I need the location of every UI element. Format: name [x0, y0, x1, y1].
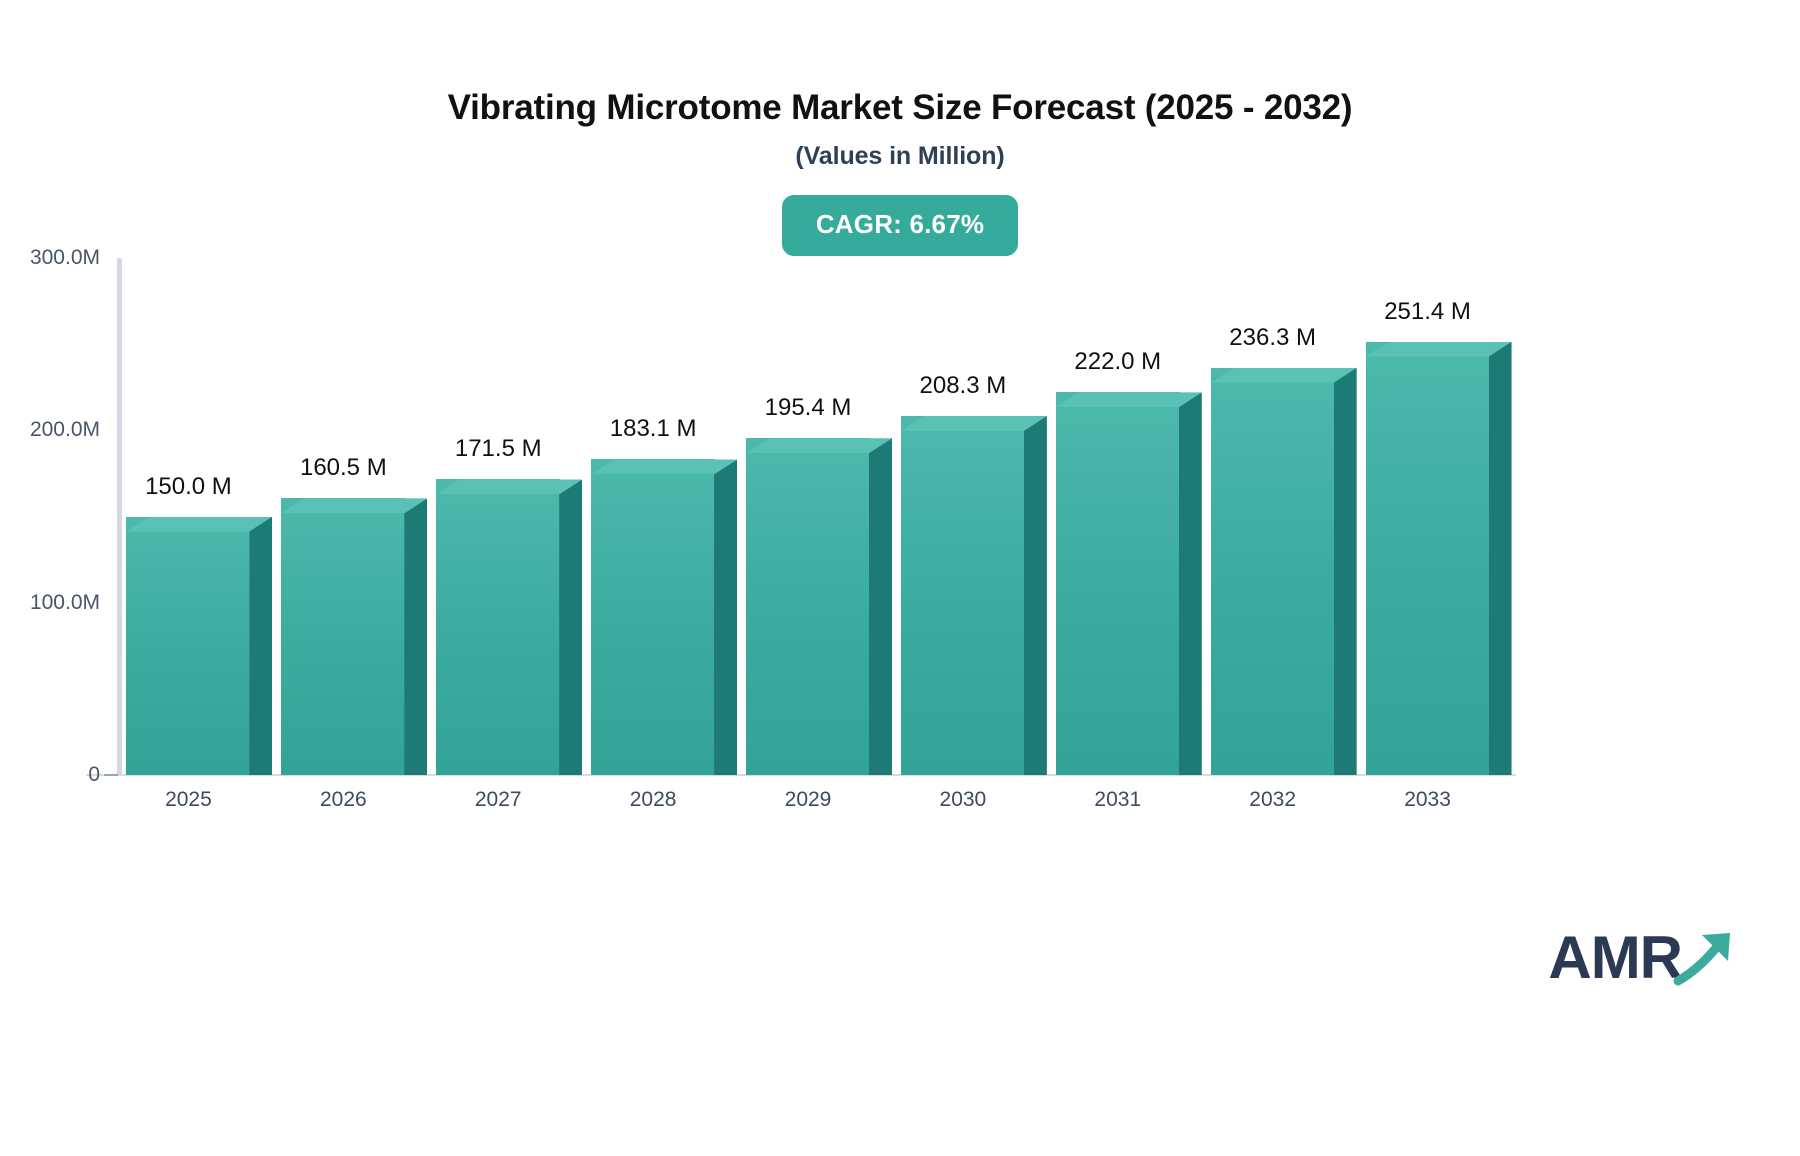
bar-top-face — [901, 416, 1047, 431]
bar-front-face — [746, 438, 870, 775]
y-axis-tick-label: 200.0M — [0, 418, 100, 442]
amr-wordmark: AMR — [1548, 928, 1682, 988]
y-axis-tick-label: 0 — [0, 763, 100, 787]
y-axis-tick-mark — [104, 257, 118, 259]
bar-2030[interactable]: 208.3 M — [901, 258, 1047, 775]
bar-front-face — [1056, 392, 1180, 775]
bar-2026[interactable]: 160.5 M — [281, 258, 427, 775]
bar-2029[interactable]: 195.4 M — [746, 258, 892, 775]
bar-top-face — [591, 459, 737, 474]
bar-top-face — [436, 479, 582, 494]
bar-value-label: 251.4 M — [1366, 298, 1490, 326]
cagr-badge-container: CAGR: 6.67% — [0, 195, 1800, 256]
bar-side-face — [1489, 342, 1512, 775]
bar-shape: 236.3 M — [1211, 368, 1357, 775]
bar-top-face — [1056, 392, 1202, 407]
page-title: Vibrating Microtome Market Size Forecast… — [0, 88, 1800, 128]
bar-value-label: 236.3 M — [1211, 324, 1335, 352]
bar-front-face — [901, 416, 1025, 775]
bar-value-label: 150.0 M — [126, 473, 250, 501]
cagr-badge: CAGR: 6.67% — [782, 195, 1018, 256]
bar-front-face — [436, 479, 560, 775]
bar-top-face — [746, 438, 892, 453]
x-axis-line — [86, 774, 1516, 776]
bar-front-face — [1211, 368, 1335, 775]
bar-side-face — [869, 438, 892, 775]
x-axis-tick-label: 2027 — [475, 788, 522, 812]
y-axis-tick-mark — [104, 774, 118, 776]
bar-value-label: 208.3 M — [901, 372, 1025, 400]
bar-shape: 160.5 M — [281, 498, 427, 775]
bar-2033[interactable]: 251.4 M — [1366, 258, 1512, 775]
bar-2027[interactable]: 171.5 M — [436, 258, 582, 775]
y-axis-tick-mark — [104, 602, 118, 604]
bar-value-label: 160.5 M — [281, 454, 405, 482]
y-axis-tick-label: 100.0M — [0, 591, 100, 615]
x-axis-tick-label: 2031 — [1094, 788, 1141, 812]
y-axis-line — [117, 258, 122, 776]
bars-container: 150.0 M160.5 M171.5 M183.1 M195.4 M208.3… — [122, 258, 1516, 775]
bar-top-face — [1366, 342, 1512, 357]
bar-side-face — [404, 498, 427, 775]
bar-shape: 195.4 M — [746, 438, 892, 775]
bar-top-face — [126, 517, 272, 532]
bar-value-label: 183.1 M — [591, 415, 715, 443]
x-axis-tick-label: 2032 — [1249, 788, 1296, 812]
bar-side-face — [559, 479, 582, 775]
bar-side-face — [1179, 392, 1202, 775]
bar-front-face — [126, 517, 250, 776]
bar-side-face — [249, 517, 272, 776]
bar-side-face — [714, 459, 737, 775]
chart-subtitle: (Values in Million) — [0, 142, 1800, 171]
bar-shape: 222.0 M — [1056, 392, 1202, 775]
chart-header: Vibrating Microtome Market Size Forecast… — [0, 0, 1800, 256]
bar-2025[interactable]: 150.0 M — [126, 258, 272, 775]
bar-shape: 150.0 M — [126, 517, 272, 776]
y-axis-tick-mark — [104, 429, 118, 431]
bar-front-face — [1366, 342, 1490, 775]
bar-side-face — [1334, 368, 1357, 775]
x-axis-tick-label: 2026 — [320, 788, 367, 812]
bar-side-face — [1024, 416, 1047, 775]
bar-value-label: 171.5 M — [436, 435, 560, 463]
bar-shape: 183.1 M — [591, 459, 737, 775]
x-axis-tick-label: 2028 — [630, 788, 677, 812]
x-axis-tick-label: 2033 — [1404, 788, 1451, 812]
x-axis-tick-label: 2025 — [165, 788, 212, 812]
bar-shape: 171.5 M — [436, 479, 582, 775]
x-axis-tick-label: 2029 — [785, 788, 832, 812]
bar-top-face — [281, 498, 427, 513]
bar-front-face — [591, 459, 715, 775]
bar-shape: 208.3 M — [901, 416, 1047, 775]
bar-2031[interactable]: 222.0 M — [1056, 258, 1202, 775]
bar-2028[interactable]: 183.1 M — [591, 258, 737, 775]
bar-top-face — [1211, 368, 1357, 383]
growth-arrow-icon — [1672, 927, 1742, 994]
bar-shape: 251.4 M — [1366, 342, 1512, 775]
bar-2032[interactable]: 236.3 M — [1211, 258, 1357, 775]
bar-front-face — [281, 498, 405, 775]
bar-value-label: 195.4 M — [746, 394, 870, 422]
x-axis-tick-label: 2030 — [940, 788, 987, 812]
bar-value-label: 222.0 M — [1056, 348, 1180, 376]
amr-logo: AMR — [1548, 927, 1742, 988]
